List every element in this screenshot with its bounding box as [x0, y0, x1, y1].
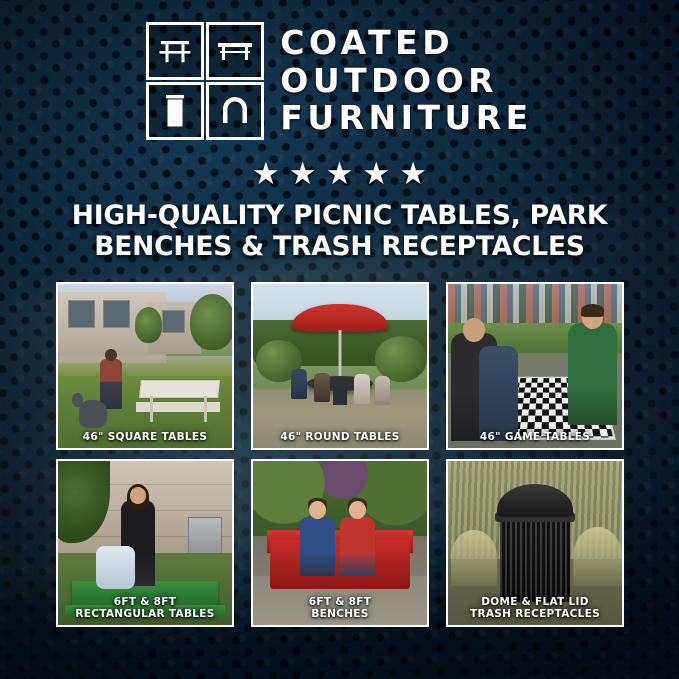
tile-caption: 6FT & 8FT BENCHES — [253, 593, 427, 625]
trash-receptacle-icon — [146, 82, 204, 140]
logo-word-2: OUTDOOR — [280, 64, 532, 99]
product-tile-rectangular-tables[interactable]: 6FT & 8FT RECTANGULAR TABLES — [56, 459, 234, 627]
headline-line-2: BENCHES & TRASH RECEPTACLES — [30, 231, 649, 262]
poster-content: COATED OUTDOOR FURNITURE ★ ★ ★ ★ ★ HIGH-… — [0, 0, 679, 679]
logo-icon-grid — [146, 22, 264, 140]
product-tile-square-tables[interactable]: 46" SQUARE TABLES — [56, 282, 234, 450]
star-icon: ★ — [326, 158, 354, 189]
star-icon: ★ — [362, 158, 390, 189]
photo-square-table-scene — [58, 284, 232, 448]
tile-caption: 46" SQUARE TABLES — [58, 428, 232, 448]
tile-caption: 46" ROUND TABLES — [253, 428, 427, 448]
product-poster: COATED OUTDOOR FURNITURE ★ ★ ★ ★ ★ HIGH-… — [0, 0, 679, 679]
photo-game-table-scene — [448, 284, 622, 448]
tile-caption: 6FT & 8FT RECTANGULAR TABLES — [58, 593, 232, 625]
park-bench-icon — [206, 22, 264, 80]
picnic-table-icon — [146, 22, 204, 80]
product-tile-game-tables[interactable]: 46" GAME TABLES — [446, 282, 624, 450]
arch-bench-icon — [206, 82, 264, 140]
tile-caption-line-1: DOME & FLAT LID — [450, 596, 620, 608]
tile-caption-line-2: TRASH RECEPTACLES — [450, 608, 620, 620]
star-rating: ★ ★ ★ ★ ★ — [0, 158, 679, 189]
brand-logo: COATED OUTDOOR FURNITURE — [0, 22, 679, 140]
tile-caption-line-1: 6FT & 8FT — [255, 596, 425, 608]
product-tile-trash-receptacles[interactable]: DOME & FLAT LID TRASH RECEPTACLES — [446, 459, 624, 627]
photo-round-table-scene — [253, 284, 427, 448]
tile-caption-line-1: 6FT & 8FT — [60, 596, 230, 608]
star-icon: ★ — [289, 158, 317, 189]
product-tile-benches[interactable]: 6FT & 8FT BENCHES — [251, 459, 429, 627]
tile-caption: DOME & FLAT LID TRASH RECEPTACLES — [448, 593, 622, 625]
logo-word-3: FURNITURE — [280, 101, 532, 136]
product-tile-round-tables[interactable]: 46" ROUND TABLES — [251, 282, 429, 450]
star-icon: ★ — [399, 158, 427, 189]
tile-caption-line-2: BENCHES — [255, 608, 425, 620]
logo-wordmark: COATED OUTDOOR FURNITURE — [280, 26, 532, 137]
logo-word-1: COATED — [280, 26, 532, 61]
star-icon: ★ — [252, 158, 280, 189]
tile-caption: 46" GAME TABLES — [448, 428, 622, 448]
headline-line-1: HIGH-QUALITY PICNIC TABLES, PARK — [72, 200, 608, 231]
headline: HIGH-QUALITY PICNIC TABLES, PARK BENCHES… — [0, 200, 679, 263]
tile-caption-line-2: RECTANGULAR TABLES — [60, 608, 230, 620]
product-grid: 46" SQUARE TABLES — [56, 282, 624, 627]
